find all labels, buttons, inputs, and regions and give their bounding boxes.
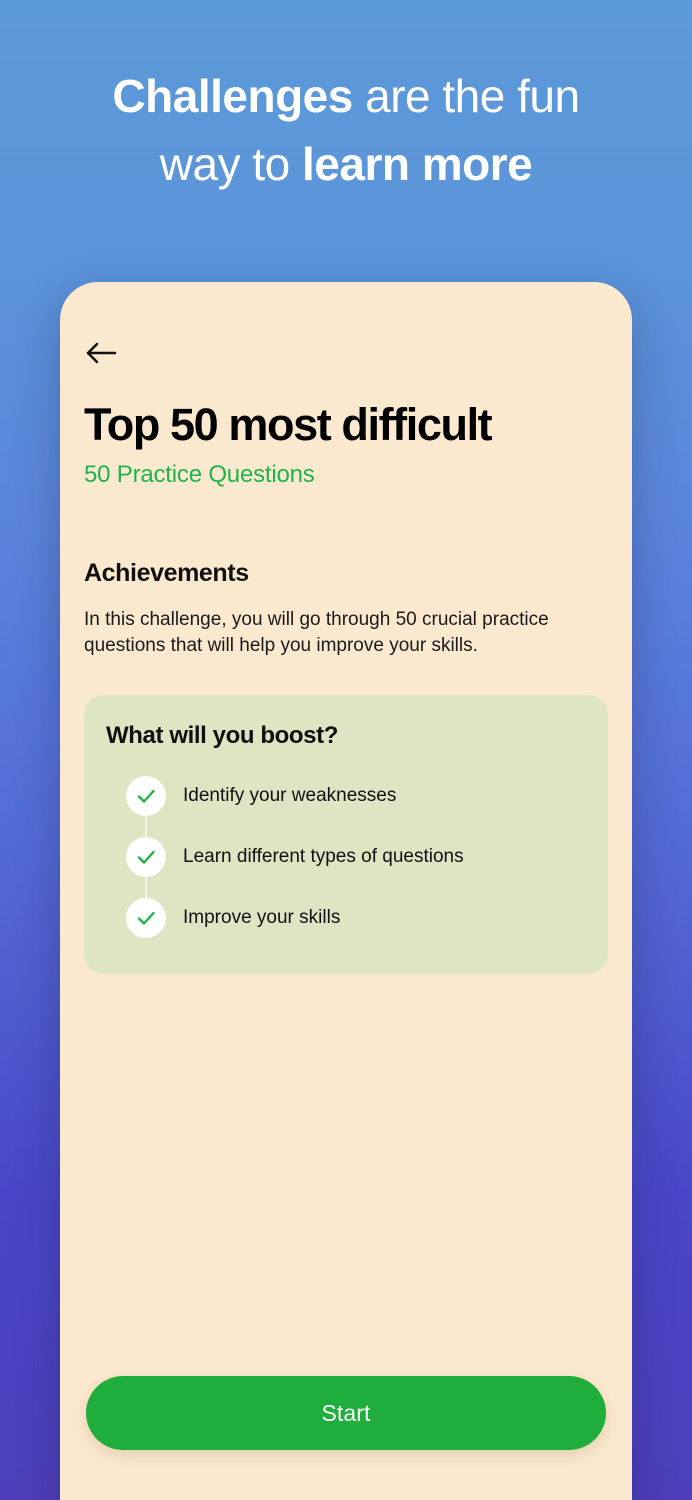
boost-heading: What will you boost? (106, 721, 586, 751)
boost-card: What will you boost? Identify your weakn… (84, 695, 608, 974)
achievements-body: In this challenge, you will go through 5… (84, 607, 596, 659)
list-item: Identify your weaknesses (106, 765, 586, 826)
check-icon (126, 898, 166, 938)
start-button[interactable]: Start (86, 1376, 606, 1450)
page-subtitle: 50 Practice Questions (84, 460, 608, 490)
page-title: Top 50 most difficult (84, 400, 608, 450)
list-item-label: Learn different types of questions (183, 845, 464, 869)
card-content: Top 50 most difficult 50 Practice Questi… (60, 282, 632, 1500)
headline-part-1: Challenges (112, 70, 352, 122)
promo-headline: Challenges are the fun way to learn more (0, 62, 692, 198)
check-icon (126, 837, 166, 877)
list-item-label: Improve your skills (183, 906, 340, 930)
boost-list: Identify your weaknesses Learn different… (106, 765, 586, 948)
headline-part-3: way to (160, 138, 302, 190)
list-item: Learn different types of questions (106, 826, 586, 887)
achievements-heading: Achievements (84, 558, 608, 588)
headline-part-4: learn more (302, 138, 532, 190)
phone-screen-card: Top 50 most difficult 50 Practice Questi… (60, 282, 632, 1500)
list-item-label: Identify your weaknesses (183, 784, 396, 808)
arrow-left-icon[interactable] (84, 340, 118, 366)
check-icon (126, 776, 166, 816)
list-item: Improve your skills (106, 887, 586, 948)
headline-part-2: are the fun (353, 70, 580, 122)
